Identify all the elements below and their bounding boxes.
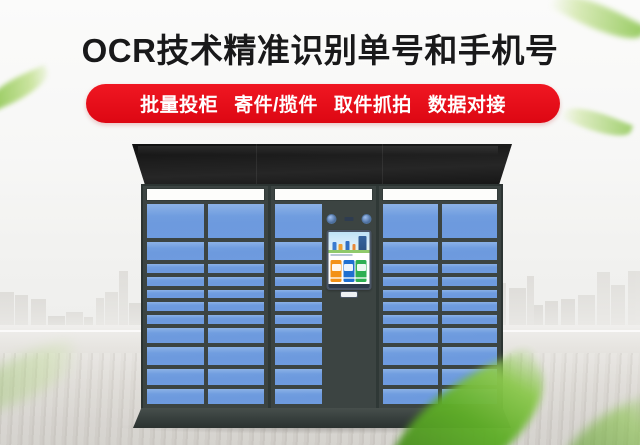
locker-door[interactable] bbox=[207, 241, 266, 261]
locker-door[interactable] bbox=[441, 203, 498, 239]
kiosk-column bbox=[325, 203, 374, 405]
locker-door[interactable] bbox=[207, 289, 266, 300]
locker-door[interactable] bbox=[274, 241, 323, 261]
cabinet-body bbox=[141, 184, 503, 410]
locker-door[interactable] bbox=[441, 263, 498, 274]
door-grid-left bbox=[146, 203, 265, 405]
door-column-right-0 bbox=[382, 203, 439, 405]
kiosk-panel bbox=[325, 203, 374, 205]
promo-banner: OCR技术精准识别单号和手机号 批量投柜 寄件/揽件 取件抓拍 数据对接 bbox=[0, 0, 640, 445]
feature-item-1: 寄件/揽件 bbox=[234, 90, 318, 117]
locker-door[interactable] bbox=[382, 301, 439, 312]
skyline-building bbox=[611, 285, 625, 330]
locker-door[interactable] bbox=[274, 314, 323, 325]
camera-icon-right bbox=[361, 214, 371, 224]
tile-send[interactable] bbox=[331, 260, 342, 282]
screen-action-tiles bbox=[328, 257, 369, 284]
header-strip-right bbox=[382, 188, 498, 201]
locker-door[interactable] bbox=[441, 289, 498, 300]
locker-door[interactable] bbox=[274, 346, 323, 366]
locker-door[interactable] bbox=[274, 263, 323, 274]
skyline-building bbox=[509, 288, 526, 330]
locker-door[interactable] bbox=[207, 346, 266, 366]
screen-footer-bar bbox=[328, 284, 369, 288]
locker-door[interactable] bbox=[146, 346, 205, 366]
locker-door[interactable] bbox=[382, 263, 439, 274]
canopy-seam-right bbox=[382, 144, 383, 186]
feature-item-3: 数据对接 bbox=[428, 90, 506, 117]
locker-door[interactable] bbox=[146, 263, 205, 274]
camera-icon-left bbox=[326, 214, 336, 224]
locker-door[interactable] bbox=[274, 368, 323, 385]
locker-door[interactable] bbox=[207, 276, 266, 287]
locker-door[interactable] bbox=[382, 289, 439, 300]
locker-door[interactable] bbox=[146, 368, 205, 385]
locker-door[interactable] bbox=[207, 388, 266, 405]
page-title: OCR技术精准识别单号和手机号 bbox=[0, 24, 640, 72]
header-strip-center bbox=[274, 188, 373, 201]
locker-door[interactable] bbox=[274, 203, 323, 239]
locker-door[interactable] bbox=[382, 327, 439, 344]
locker-door[interactable] bbox=[146, 314, 205, 325]
locker-door[interactable] bbox=[274, 388, 323, 405]
screen-banner-illustration bbox=[328, 232, 369, 253]
locker-door[interactable] bbox=[207, 314, 266, 325]
locker-door[interactable] bbox=[382, 346, 439, 366]
door-grid-center bbox=[274, 203, 373, 405]
locker-door[interactable] bbox=[146, 327, 205, 344]
smart-locker-cabinet bbox=[141, 144, 503, 425]
locker-door[interactable] bbox=[207, 263, 266, 274]
canopy-sheen bbox=[138, 146, 498, 155]
locker-door[interactable] bbox=[207, 327, 266, 344]
locker-door[interactable] bbox=[146, 241, 205, 261]
door-column-center-left bbox=[274, 203, 323, 405]
locker-door[interactable] bbox=[382, 276, 439, 287]
feature-item-2: 取件抓拍 bbox=[334, 90, 412, 117]
canopy-seam-left bbox=[256, 144, 257, 186]
scanner-slit-icon bbox=[344, 217, 353, 221]
locker-door[interactable] bbox=[146, 388, 205, 405]
locker-door[interactable] bbox=[146, 289, 205, 300]
locker-door[interactable] bbox=[146, 301, 205, 312]
center-panel bbox=[271, 186, 379, 408]
scanner-row bbox=[326, 214, 371, 224]
locker-door[interactable] bbox=[274, 276, 323, 287]
locker-door[interactable] bbox=[146, 203, 205, 239]
feature-badge-bar: 批量投柜 寄件/揽件 取件抓拍 数据对接 bbox=[86, 84, 560, 123]
skyline-building bbox=[119, 271, 128, 330]
locker-door[interactable] bbox=[382, 368, 439, 385]
card-slot[interactable] bbox=[340, 291, 358, 298]
canopy bbox=[132, 144, 512, 186]
tile-pick[interactable] bbox=[343, 260, 354, 282]
feature-item-0: 批量投柜 bbox=[140, 90, 218, 117]
locker-door[interactable] bbox=[382, 314, 439, 325]
skyline-building bbox=[628, 271, 640, 330]
locker-door[interactable] bbox=[441, 314, 498, 325]
locker-door[interactable] bbox=[274, 327, 323, 344]
kiosk-touchscreen[interactable] bbox=[326, 230, 371, 290]
locker-door[interactable] bbox=[146, 276, 205, 287]
screen-search-bar[interactable] bbox=[328, 253, 369, 257]
locker-door[interactable] bbox=[207, 203, 266, 239]
locker-door[interactable] bbox=[274, 301, 323, 312]
locker-door[interactable] bbox=[441, 346, 498, 366]
tile-query[interactable] bbox=[356, 260, 367, 282]
locker-door[interactable] bbox=[441, 327, 498, 344]
left-panel bbox=[143, 186, 271, 408]
locker-door[interactable] bbox=[382, 203, 439, 239]
locker-door[interactable] bbox=[207, 301, 266, 312]
locker-door[interactable] bbox=[441, 276, 498, 287]
door-column-left-0 bbox=[146, 203, 205, 405]
door-column-left-1 bbox=[207, 203, 266, 405]
skyline-building bbox=[597, 272, 610, 330]
skyline-building bbox=[527, 276, 534, 330]
locker-door[interactable] bbox=[441, 301, 498, 312]
locker-door[interactable] bbox=[441, 241, 498, 261]
locker-door[interactable] bbox=[382, 241, 439, 261]
locker-door[interactable] bbox=[207, 368, 266, 385]
header-strip-left bbox=[146, 188, 265, 201]
locker-door[interactable] bbox=[274, 289, 323, 300]
